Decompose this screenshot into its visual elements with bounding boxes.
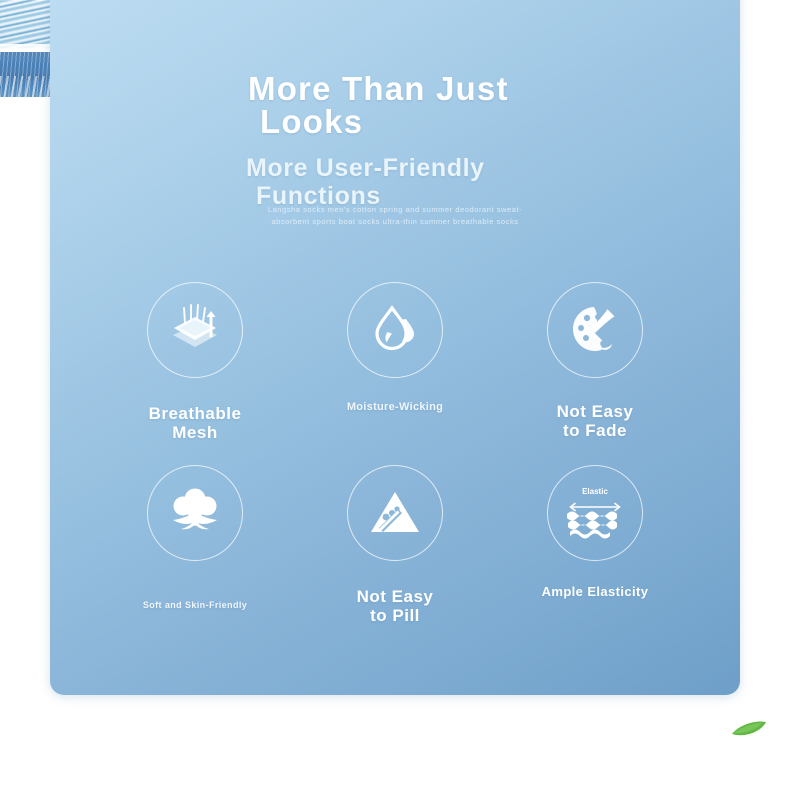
underwater-image: [0, 52, 52, 97]
feature-grid: Breathable Mesh Moisture-Wicking: [50, 282, 740, 626]
feature-label: Not Easy to Fade: [557, 403, 634, 440]
feature-label-line1: Breathable: [149, 404, 242, 423]
feature-row: Breathable Mesh Moisture-Wicking: [50, 282, 740, 442]
paint-palette-icon: [566, 301, 624, 359]
feature-icon-circle: [147, 282, 243, 378]
feature-row: Soft and Skin-Friendly: [50, 465, 740, 625]
water-droplet-icon: [366, 301, 424, 359]
water-photo-strip: [0, 0, 52, 97]
feature-label: Ample Elasticity: [542, 585, 649, 599]
feature-label-line1: Soft and Skin-Friendly: [143, 600, 247, 610]
headline-primary-line1: More Than Just: [248, 70, 509, 107]
feature-label-line1: Not Easy: [357, 587, 434, 606]
water-surface-image: [0, 0, 52, 48]
feature-label: Soft and Skin-Friendly: [143, 601, 247, 611]
feature-card: More Than Just Looks More User-Friendly …: [50, 0, 740, 695]
feature-icon-circle: [147, 465, 243, 561]
feature-item-ample-elasticity[interactable]: Elastic Ample Elast: [495, 465, 695, 625]
feature-icon-circle: [347, 465, 443, 561]
feature-item-not-easy-to-pill[interactable]: Not Easy to Pill: [295, 465, 495, 625]
feature-label-line1: Ample Elasticity: [542, 584, 649, 599]
feature-label-line2: Mesh: [149, 424, 242, 443]
feature-item-moisture-wicking[interactable]: Moisture-Wicking: [295, 282, 495, 442]
breathable-mesh-icon: [164, 299, 226, 361]
feature-icon-circle: [547, 282, 643, 378]
headline-secondary: More User-Friendly Functions: [244, 154, 546, 210]
feature-label-line2: to Pill: [357, 607, 434, 626]
green-leaf-decoration: [731, 720, 767, 738]
feature-label: Breathable Mesh: [149, 405, 242, 442]
elastic-caption: Elastic: [582, 487, 608, 496]
product-subtitle: Langsha socks men's cotton spring and su…: [260, 204, 530, 227]
feature-item-breathable-mesh[interactable]: Breathable Mesh: [95, 282, 295, 442]
feature-icon-circle: Elastic: [547, 465, 643, 561]
feature-label: Not Easy to Pill: [357, 588, 434, 625]
feature-label-line1: Not Easy: [557, 402, 634, 421]
headline-block: More Than Just Looks More User-Friendly …: [50, 72, 740, 210]
headline-primary: More Than Just Looks: [242, 72, 548, 138]
feature-label-line2: to Fade: [557, 422, 634, 441]
headline-secondary-line1: More User-Friendly: [246, 154, 485, 182]
elastic-waves-icon: Elastic: [557, 478, 633, 548]
anti-pill-triangle-icon: [365, 484, 425, 542]
cotton-boll-icon: [164, 482, 226, 544]
feature-label: Moisture-Wicking: [347, 401, 443, 413]
headline-primary-line2: Looks: [248, 105, 548, 138]
feature-label-line1: Moisture-Wicking: [347, 401, 443, 413]
feature-icon-circle: [347, 282, 443, 378]
feature-item-soft-skin-friendly[interactable]: Soft and Skin-Friendly: [95, 465, 295, 625]
feature-item-not-easy-to-fade[interactable]: Not Easy to Fade: [495, 282, 695, 442]
